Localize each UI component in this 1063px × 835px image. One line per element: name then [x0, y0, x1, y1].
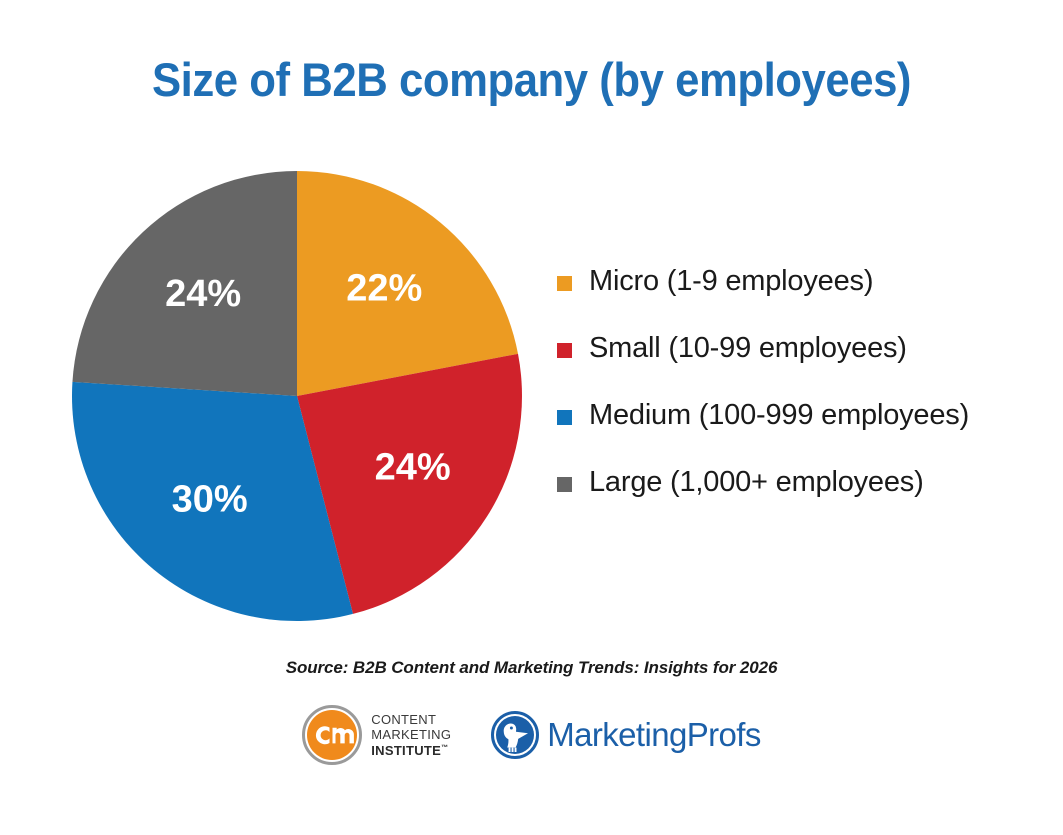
legend-swatch-icon-large	[557, 477, 572, 492]
pie-label-micro: 22%	[346, 267, 422, 309]
pie-label-large: 24%	[165, 273, 241, 315]
cmi-logo[interactable]: CONTENT MARKETING INSTITUTE™	[302, 705, 451, 765]
logo-row: CONTENT MARKETING INSTITUTE™ MarketingPr…	[0, 705, 1063, 765]
legend-label-medium: Medium (100-999 employees)	[589, 399, 969, 432]
legend-item-large[interactable]: Large (1,000+ employees)	[557, 449, 1027, 516]
pie-slices	[72, 171, 522, 621]
marketingprofs-wordmark: MarketingProfs	[547, 716, 761, 754]
trademark-symbol: ™	[441, 744, 448, 751]
legend-item-medium[interactable]: Medium (100-999 employees)	[557, 382, 1027, 449]
legend-swatch-icon-medium	[557, 410, 572, 425]
pie-chart-svg: 22% 24% 30% 24%	[71, 170, 523, 622]
legend-label-micro: Micro (1-9 employees)	[589, 265, 873, 298]
legend-label-small: Small (10-99 employees)	[589, 332, 907, 365]
legend-swatch-icon-small	[557, 343, 572, 358]
legend-label-large: Large (1,000+ employees)	[589, 466, 924, 499]
pie-chart: 22% 24% 30% 24%	[71, 170, 523, 622]
marketingprofs-logo[interactable]: MarketingProfs	[491, 711, 761, 759]
legend-swatch-icon-micro	[557, 276, 572, 291]
legend: Micro (1-9 employees) Small (10-99 emplo…	[557, 248, 1027, 516]
legend-item-micro[interactable]: Micro (1-9 employees)	[557, 248, 1027, 315]
marketingprofs-bird-icon	[491, 711, 539, 759]
pie-label-small: 24%	[375, 446, 451, 488]
pie-label-medium: 30%	[172, 479, 248, 521]
cmi-wordmark-line1: CONTENT	[371, 712, 451, 727]
cmi-circle-icon	[302, 705, 362, 765]
page-title: Size of B2B company (by employees)	[37, 52, 1026, 107]
cmi-wordmark-line3: INSTITUTE	[371, 743, 441, 758]
cmi-wordmark: CONTENT MARKETING INSTITUTE™	[371, 712, 451, 758]
legend-item-small[interactable]: Small (10-99 employees)	[557, 315, 1027, 382]
source-attribution: Source: B2B Content and Marketing Trends…	[0, 658, 1063, 678]
cmi-wordmark-line2: MARKETING	[371, 727, 451, 742]
